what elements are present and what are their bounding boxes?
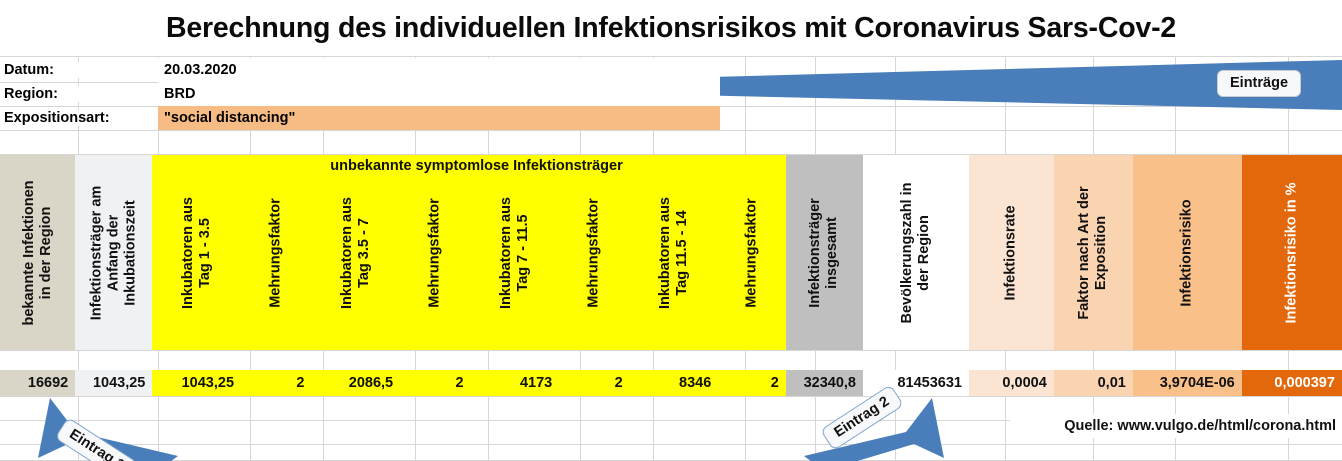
column-header-3[interactable]: Mehrungsfaktor bbox=[241, 155, 311, 350]
column-header-label: Infektionsrate bbox=[1003, 205, 1020, 300]
data-cell-12[interactable]: 0,0004 bbox=[969, 370, 1054, 396]
data-cell-0[interactable]: 16692 bbox=[0, 370, 75, 396]
column-header-6[interactable]: Inkubatoren ausTag 7 - 11.5 bbox=[470, 155, 559, 350]
info-row: Region: BRD bbox=[0, 82, 720, 106]
column-header-label: Infektionsrisiko in % bbox=[1283, 182, 1300, 323]
data-cell-9[interactable]: 2 bbox=[718, 370, 786, 396]
data-cell-8[interactable]: 8346 bbox=[630, 370, 719, 396]
data-cell-15[interactable]: 0,000397 bbox=[1242, 370, 1342, 396]
data-cell-2[interactable]: 1043,25 bbox=[152, 370, 241, 396]
column-header-label: Infektionsrisiko bbox=[1179, 199, 1196, 306]
column-header-label: Faktor nach Art derExposition bbox=[1076, 186, 1110, 319]
page-title-bar: Berechnung des individuellen Infektionsr… bbox=[0, 0, 1342, 56]
data-cell-7[interactable]: 2 bbox=[559, 370, 629, 396]
data-row: 166921043,251043,2522086,524173283462323… bbox=[0, 370, 1342, 396]
column-header-label: Inkubatoren ausTag 7 - 11.5 bbox=[498, 197, 532, 309]
column-header-label: Mehrungsfaktor bbox=[744, 198, 761, 308]
page-title: Berechnung des individuellen Infektionsr… bbox=[166, 12, 1176, 45]
info-label-region: Region: bbox=[0, 86, 158, 102]
column-header-label: Mehrungsfaktor bbox=[268, 198, 285, 308]
info-value-region[interactable]: BRD bbox=[158, 82, 720, 106]
data-cell-10[interactable]: 32340,8 bbox=[786, 370, 863, 396]
column-header-9[interactable]: Mehrungsfaktor bbox=[718, 155, 785, 350]
column-header-5[interactable]: Mehrungsfaktor bbox=[400, 155, 470, 350]
info-value-datum[interactable]: 20.03.2020 bbox=[158, 58, 720, 82]
column-header-8[interactable]: Inkubatoren ausTag 11.5 - 14 bbox=[630, 155, 719, 350]
column-header-band: bekannte Infektionenin der RegionInfekti… bbox=[0, 155, 1342, 350]
data-cell-14[interactable]: 3,9704E-06 bbox=[1133, 370, 1242, 396]
column-header-label: bekannte Infektionenin der Region bbox=[21, 180, 55, 325]
column-header-7[interactable]: Mehrungsfaktor bbox=[559, 155, 629, 350]
data-cell-4[interactable]: 2086,5 bbox=[311, 370, 400, 396]
info-label-expositionsart: Expositionsart: bbox=[0, 110, 158, 126]
column-header-label: Infektionsträgerinsgesamt bbox=[807, 198, 841, 308]
column-header-label: Mehrungsfaktor bbox=[586, 198, 603, 308]
column-header-label: Inkubatoren ausTag 11.5 - 14 bbox=[657, 197, 691, 309]
data-cell-1[interactable]: 1043,25 bbox=[75, 370, 152, 396]
callout-eintraege: Einträge bbox=[1217, 70, 1301, 97]
info-row: Expositionsart: "social distancing" bbox=[0, 106, 720, 130]
data-cell-6[interactable]: 4173 bbox=[471, 370, 560, 396]
column-header-12[interactable]: Infektionsrate bbox=[969, 155, 1054, 350]
column-header-0[interactable]: bekannte Infektionenin der Region bbox=[0, 155, 75, 350]
column-header-4[interactable]: Inkubatoren ausTag 3.5 - 7 bbox=[311, 155, 400, 350]
info-row: Datum: 20.03.2020 bbox=[0, 58, 720, 82]
column-header-label: Mehrungsfaktor bbox=[427, 198, 444, 308]
column-header-15[interactable]: Infektionsrisiko in % bbox=[1242, 155, 1342, 350]
info-value-expositionsart[interactable]: "social distancing" bbox=[158, 106, 720, 130]
column-header-label: Bevölkerungszahl inder Region bbox=[899, 182, 933, 323]
data-cell-3[interactable]: 2 bbox=[241, 370, 311, 396]
column-header-label: Inkubatoren ausTag 1 - 3.5 bbox=[180, 197, 214, 309]
data-cell-5[interactable]: 2 bbox=[400, 370, 470, 396]
data-cell-13[interactable]: 0,01 bbox=[1054, 370, 1133, 396]
column-header-1[interactable]: Infektionsträger amAnfang derInkubations… bbox=[75, 155, 152, 350]
column-header-label: Inkubatoren ausTag 3.5 - 7 bbox=[339, 197, 373, 309]
column-header-label: Infektionsträger amAnfang derInkubations… bbox=[88, 185, 139, 320]
info-block: Datum: 20.03.2020 Region: BRD Exposition… bbox=[0, 58, 720, 130]
column-header-2[interactable]: Inkubatoren ausTag 1 - 3.5 bbox=[152, 155, 241, 350]
source-note: Quelle: www.vulgo.de/html/corona.html bbox=[1010, 414, 1342, 438]
info-label-datum: Datum: bbox=[0, 62, 158, 78]
column-header-13[interactable]: Faktor nach Art derExposition bbox=[1054, 155, 1133, 350]
column-header-14[interactable]: Infektionsrisiko bbox=[1133, 155, 1242, 350]
spreadsheet-canvas: Berechnung des individuellen Infektionsr… bbox=[0, 0, 1342, 461]
column-header-10[interactable]: Infektionsträgerinsgesamt bbox=[786, 155, 863, 350]
column-header-11[interactable]: Bevölkerungszahl inder Region bbox=[863, 155, 969, 350]
